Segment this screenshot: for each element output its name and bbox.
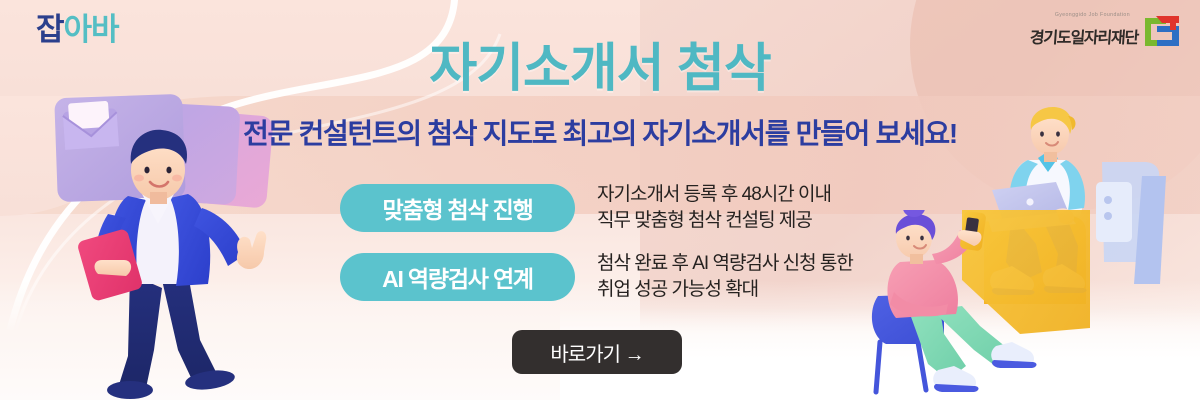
feature-list: 맞춤형 첨삭 진행 자기소개서 등록 후 48시간 이내 직무 맞춤형 첨삭 컨… xyxy=(340,182,960,321)
feature-pill-customized-review[interactable]: 맞춤형 첨삭 진행 xyxy=(340,184,575,232)
feature-pill-ai-assessment[interactable]: AI 역량검사 연계 xyxy=(340,253,575,301)
feature-row: AI 역량검사 연계 첨삭 완료 후 AI 역량검사 신청 통한 취업 성공 가… xyxy=(340,251,960,302)
feature-description: 자기소개서 등록 후 48시간 이내 직무 맞춤형 첨삭 컨설팅 제공 xyxy=(597,182,831,233)
banner-subtitle: 전문 컨설턴트의 첨삭 지도로 최고의 자기소개서를 만들어 보세요! xyxy=(0,112,1200,152)
promo-banner: 잡아바 Gyeonggido Job Foundation 경기도일자리재단 자… xyxy=(0,0,1200,400)
banner-title: 자기소개서 첨삭 xyxy=(0,26,1200,101)
cta-button-go[interactable]: 바로가기 → xyxy=(512,330,682,374)
feature-row: 맞춤형 첨삭 진행 자기소개서 등록 후 48시간 이내 직무 맞춤형 첨삭 컨… xyxy=(340,182,960,233)
foundation-name-en: Gyeonggido Job Foundation xyxy=(1055,12,1130,18)
feature-description: 첨삭 완료 후 AI 역량검사 신청 통한 취업 성공 가능성 확대 xyxy=(597,251,853,302)
